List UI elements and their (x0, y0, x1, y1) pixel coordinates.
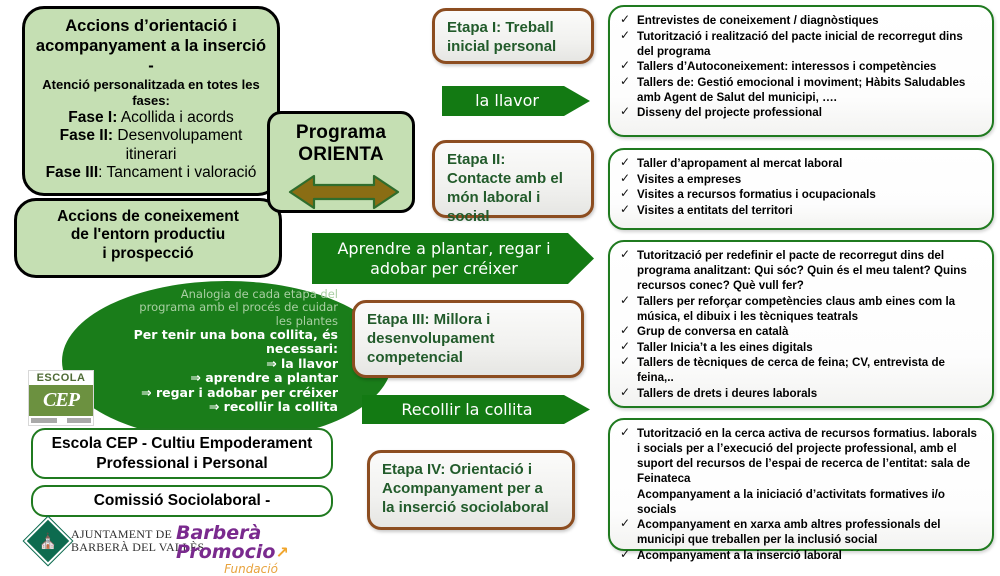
fase3-text: : Tancament i valoració (98, 164, 256, 181)
list-item-text: Tallers per reforçar competències claus … (637, 295, 955, 323)
etapa-2-box: Etapa II: Contacte amb el món laboral i … (432, 140, 594, 218)
list-item-text: Acompanyament en xarxa amb altres profes… (637, 518, 941, 546)
list-item: ✓Visites a empreses (620, 172, 982, 187)
list-item: ✓Tallers d’Autoconeixement: interessos i… (620, 59, 982, 74)
etapa-1-line1: Etapa I: Treball (447, 19, 579, 38)
check-icon: ✓ (620, 425, 630, 441)
list-item-text: Acompanyament a la iniciació d’activitat… (637, 488, 945, 516)
analogia-item-3: ⇒ regar i adobar per créixer (108, 386, 338, 401)
list-item: ✓Tallers de: Gestió emocional i moviment… (620, 75, 982, 105)
accions-coneixement-box: Accions de coneixement de l'entorn produ… (14, 198, 282, 278)
checklist-2-list: ✓Taller d’apropament al mercat laboral ✓… (620, 156, 982, 218)
analogia-bold-line2: necessari: (108, 342, 338, 357)
etapa-3-line3: competencial (367, 349, 569, 368)
comissio-sociolaboral-box: Comissió Sociolaboral - (31, 485, 333, 517)
check-icon: ✓ (620, 385, 630, 401)
list-item-text: Acompanyament a la inserció laboral (637, 549, 842, 562)
cep-footer-mark-right (67, 418, 91, 423)
banner-plantar-line2: adobar per créixer (370, 259, 518, 279)
check-icon: ✓ (620, 323, 630, 339)
list-item-text: Disseny del projecte professional (637, 106, 822, 119)
barbera-name-text: Barberà Promocio (176, 522, 275, 563)
etapa-4-line3: la inserció sociolaboral (382, 499, 560, 518)
check-icon: ✓ (620, 74, 630, 90)
list-item: ✓Tallers de tècniques de cerca de feina;… (620, 355, 982, 385)
analogia-line2: programa amb el procés de cuidar (108, 301, 338, 314)
check-icon: ✓ (620, 516, 630, 532)
analogia-bold-line1: Per tenir una bona collita, és (108, 328, 338, 343)
box2-line1: Accions de coneixement (23, 208, 273, 226)
list-item: ✓Entrevistes de coneixement / diagnòstiq… (620, 13, 982, 28)
list-item-text: Tutorització per redefinir el pacte de r… (637, 249, 967, 292)
fase1-label: Fase I: (68, 109, 117, 126)
analogia-line3: les plantes (108, 315, 338, 328)
cep-logo-footer (29, 416, 93, 425)
double-headed-arrow-icon (288, 172, 400, 212)
box1-sub-line2: fases: (31, 93, 271, 108)
list-item-text: Tallers de: Gestió emocional i moviment;… (637, 76, 965, 104)
cep-footer-mark-left (31, 418, 57, 423)
list-item: ✓Acompanyament en xarxa amb altres profe… (620, 517, 982, 547)
list-item-text: Taller Inicia’t a les eines digitals (637, 341, 813, 354)
etapa-2-line2: Contacte amb el (447, 170, 579, 189)
list-item-text: Tallers de drets i deures laborals (637, 387, 817, 400)
list-item: ✓Tutorització i realització del pacte in… (620, 29, 982, 59)
analogia-text: Analogia de cada etapa del programa amb … (108, 288, 338, 415)
box1-fase3: Fase III: Tancament i valoració (31, 164, 271, 182)
analogia-item-4: ⇒ recollir la collita (108, 400, 338, 415)
escola-cep-line1: Escola CEP - Cultiu Empoderament (52, 434, 313, 453)
list-item-text: Entrevistes de coneixement / diagnòstiqu… (637, 14, 879, 27)
escola-cep-title-box: Escola CEP - Cultiu Empoderament Profess… (31, 428, 333, 479)
box1-fase2: Fase II: Desenvolupament (31, 127, 271, 145)
fase3-label: Fase III (46, 164, 99, 181)
list-item: ✓Tutorització en la cerca activa de recu… (620, 426, 982, 486)
banner-collita: Recollir la collita (362, 395, 590, 424)
checklist-1-list: ✓Entrevistes de coneixement / diagnòstiq… (620, 13, 982, 120)
list-item: ✓Visites a recursos formatius i ocupacio… (620, 187, 982, 202)
check-icon: ✓ (620, 58, 630, 74)
programa-label: Programa (270, 122, 412, 144)
list-item: ✓Taller Inicia’t a les eines digitals (620, 340, 982, 355)
list-item: ✓Visites a entitats del territori (620, 203, 982, 218)
list-item: ✓Disseny del projecte professional (620, 105, 982, 120)
list-item-text: Visites a recursos formatius i ocupacion… (637, 188, 876, 201)
check-icon: ✓ (620, 339, 630, 355)
fase2-label: Fase II: (60, 127, 113, 144)
etapa-1-box: Etapa I: Treball inicial personal (432, 8, 594, 64)
escola-cep-logo: ESCOLA CEP (28, 370, 94, 426)
accions-orientacio-box: Accions d’orientació i acompanyament a l… (22, 6, 280, 196)
barbera-arrow-icon: ↗ (275, 543, 288, 562)
analogia-item-1: ⇒ la llavor (108, 357, 338, 372)
check-icon: ✓ (620, 28, 630, 44)
check-icon: ✓ (620, 171, 630, 187)
diagram-canvas: Accions d’orientació i acompanyament a l… (0, 0, 1000, 563)
etapa-4-line1: Etapa IV: Orientació i (382, 461, 560, 480)
checklist-4-list: ✓Tutorització en la cerca activa de recu… (620, 426, 982, 563)
cep-logo-top-text: ESCOLA (37, 373, 86, 384)
list-item: ✓Taller d’apropament al mercat laboral (620, 156, 982, 171)
etapa-2-line1: Etapa II: (447, 151, 579, 170)
list-item-text: Tallers de tècniques de cerca de feina; … (637, 356, 945, 384)
etapa-3-line2: desenvolupament (367, 330, 569, 349)
cep-logo-text: CEP (43, 389, 79, 412)
list-item: ✓Tallers per reforçar competències claus… (620, 294, 982, 324)
orienta-label: ORIENTA (270, 144, 412, 166)
etapa-4-box: Etapa IV: Orientació i Acompanyament per… (367, 450, 575, 530)
programa-orienta-box: Programa ORIENTA (267, 111, 415, 213)
banner-plantar: Aprendre a plantar, regar i adobar per c… (312, 233, 594, 284)
list-item-text: Visites a entitats del territori (637, 204, 793, 217)
list-item: ✓Tallers de drets i deures laborals (620, 386, 982, 401)
etapa-3-line1: Etapa III: Millora i (367, 311, 569, 330)
banner-llavor: la llavor (442, 86, 590, 116)
check-icon: ✓ (620, 155, 630, 171)
ajuntament-shield-icon: ⛪ (24, 517, 72, 565)
check-icon: ✓ (620, 186, 630, 202)
analogia-item-2: ⇒ aprendre a plantar (108, 371, 338, 386)
barbera-fundacio-label: Fundació (176, 563, 326, 575)
checklist-etapa-4: ✓Tutorització en la cerca activa de recu… (608, 418, 994, 551)
banner-llavor-text: la llavor (475, 91, 539, 111)
checklist-etapa-1: ✓Entrevistes de coneixement / diagnòstiq… (608, 5, 994, 137)
check-icon: ✓ (620, 547, 630, 563)
box2-line2: de l'entorn productiu (23, 226, 273, 244)
comissio-label: Comissió Sociolaboral - (94, 492, 271, 510)
etapa-3-box: Etapa III: Millora i desenvolupament com… (352, 300, 584, 378)
analogia-line1: Analogia de cada etapa del (108, 288, 338, 301)
banner-collita-text: Recollir la collita (401, 400, 532, 420)
box1-title-line1: Accions d’orientació i (31, 17, 271, 36)
box1-sub-line1: Atenció personalitzada en totes les (31, 77, 271, 92)
list-item: Acompanyament a la iniciació d’activitat… (620, 487, 982, 517)
check-icon: ✓ (620, 202, 630, 218)
list-item-text: Grup de conversa en català (637, 325, 788, 338)
castle-glyph: ⛪ (39, 534, 58, 549)
etapa-2-line3: món laboral i social (447, 189, 579, 227)
cep-logo-mark: CEP (29, 385, 93, 416)
box1-fase1: Fase I: Acollida i acords (31, 109, 271, 127)
checklist-etapa-3: ✓Tutorització per redefinir el pacte de … (608, 240, 994, 408)
check-icon: ✓ (620, 247, 630, 263)
check-icon: ✓ (620, 293, 630, 309)
barbera-promocio-logo: Barberà Promocio↗ Fundació (176, 524, 326, 560)
box1-title-line2: acompanyament a la inserció - (31, 37, 271, 76)
list-item-text: Visites a empreses (637, 173, 741, 186)
checklist-3-list: ✓Tutorització per redefinir el pacte de … (620, 248, 982, 401)
box2-line3: i prospecció (23, 245, 273, 263)
list-item: ✓Acompanyament a la inserció laboral (620, 548, 982, 563)
etapa-4-line2: Acompanyament per a (382, 480, 560, 499)
etapa-1-line2: inicial personal (447, 38, 579, 57)
fase2-text: Desenvolupament (113, 127, 242, 144)
list-item-text: Tutorització i realització del pacte ini… (637, 30, 963, 58)
escola-cep-line2: Professional i Personal (96, 454, 267, 473)
barbera-promocio-name: Barberà Promocio↗ (176, 524, 326, 562)
list-item-text: Tutorització en la cerca activa de recur… (637, 427, 977, 485)
list-item-text: Tallers d’Autoconeixement: interessos i … (637, 60, 936, 73)
list-item-text: Taller d’apropament al mercat laboral (637, 157, 842, 170)
list-item: ✓Grup de conversa en català (620, 324, 982, 339)
checklist-etapa-2: ✓Taller d’apropament al mercat laboral ✓… (608, 148, 994, 230)
list-item: ✓Tutorització per redefinir el pacte de … (620, 248, 982, 293)
check-icon: ✓ (620, 12, 630, 28)
banner-plantar-line1: Aprendre a plantar, regar i (337, 239, 550, 259)
check-icon: ✓ (620, 354, 630, 370)
fase1-text: Acollida i acords (117, 109, 233, 126)
check-icon: ✓ (620, 104, 630, 120)
box1-fase2-cont: itinerari (31, 146, 271, 164)
